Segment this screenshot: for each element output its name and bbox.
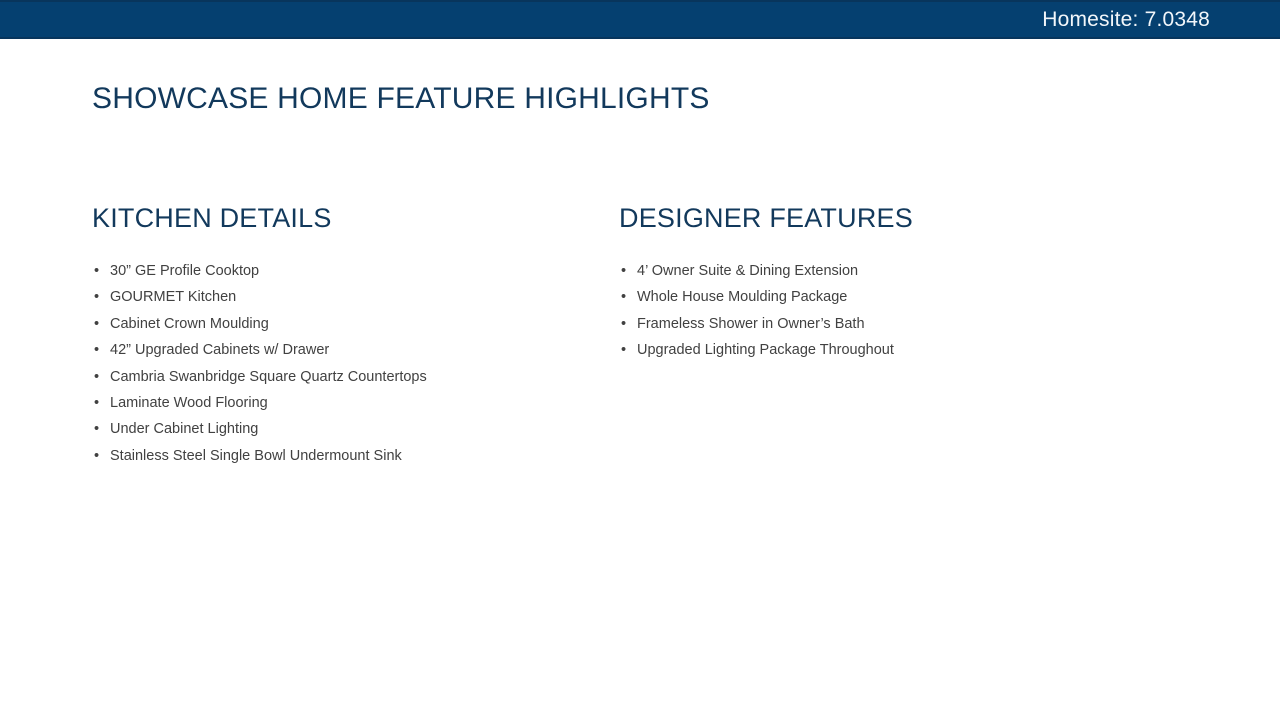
list-item: • Frameless Shower in Owner’s Bath [619,311,1119,337]
bullet-icon: • [94,311,99,337]
list-item-label: Cabinet Crown Moulding [110,316,269,332]
list-item-label: Under Cabinet Lighting [110,421,258,437]
homesite-label: Homesite: 7.0348 [1042,9,1280,30]
page-title: SHOWCASE HOME FEATURE HIGHLIGHTS [92,82,710,116]
bullet-icon: • [621,337,626,363]
bullet-icon: • [94,364,99,390]
list-item-label: 4’ Owner Suite & Dining Extension [637,263,858,279]
list-item-label: Cambria Swanbridge Square Quartz Counter… [110,369,427,385]
bullet-icon: • [621,258,626,284]
list-item: • Stainless Steel Single Bowl Undermount… [92,443,592,469]
bullet-icon: • [94,337,99,363]
list-item-label: 30” GE Profile Cooktop [110,263,259,279]
list-item: • Whole House Moulding Package [619,284,1119,310]
designer-features-heading: DESIGNER FEATURES [619,202,1119,234]
bullet-icon: • [621,284,626,310]
kitchen-details-column: KITCHEN DETAILS • 30” GE Profile Cooktop… [92,202,592,469]
list-item-label: Stainless Steel Single Bowl Undermount S… [110,448,402,464]
list-item: • 30” GE Profile Cooktop [92,258,592,284]
list-item-label: 42” Upgraded Cabinets w/ Drawer [110,342,329,358]
list-item-label: Whole House Moulding Package [637,289,847,305]
list-item-label: Upgraded Lighting Package Throughout [637,342,894,358]
bullet-icon: • [94,258,99,284]
designer-features-column: DESIGNER FEATURES • 4’ Owner Suite & Din… [619,202,1119,364]
list-item-label: Frameless Shower in Owner’s Bath [637,316,865,332]
bullet-icon: • [94,284,99,310]
list-item: • GOURMET Kitchen [92,284,592,310]
list-item: • 4’ Owner Suite & Dining Extension [619,258,1119,284]
bullet-icon: • [94,416,99,442]
list-item: • Cabinet Crown Moulding [92,311,592,337]
list-item-label: GOURMET Kitchen [110,289,236,305]
top-banner: Homesite: 7.0348 [0,0,1280,39]
bullet-icon: • [621,311,626,337]
kitchen-details-heading: KITCHEN DETAILS [92,202,592,234]
list-item: • Laminate Wood Flooring [92,390,592,416]
list-item: • 42” Upgraded Cabinets w/ Drawer [92,337,592,363]
designer-features-list: • 4’ Owner Suite & Dining Extension • Wh… [619,258,1119,364]
bullet-icon: • [94,390,99,416]
list-item: • Under Cabinet Lighting [92,416,592,442]
kitchen-details-list: • 30” GE Profile Cooktop • GOURMET Kitch… [92,258,592,469]
list-item: • Upgraded Lighting Package Throughout [619,337,1119,363]
bullet-icon: • [94,443,99,469]
list-item-label: Laminate Wood Flooring [110,395,268,411]
list-item: • Cambria Swanbridge Square Quartz Count… [92,364,592,390]
